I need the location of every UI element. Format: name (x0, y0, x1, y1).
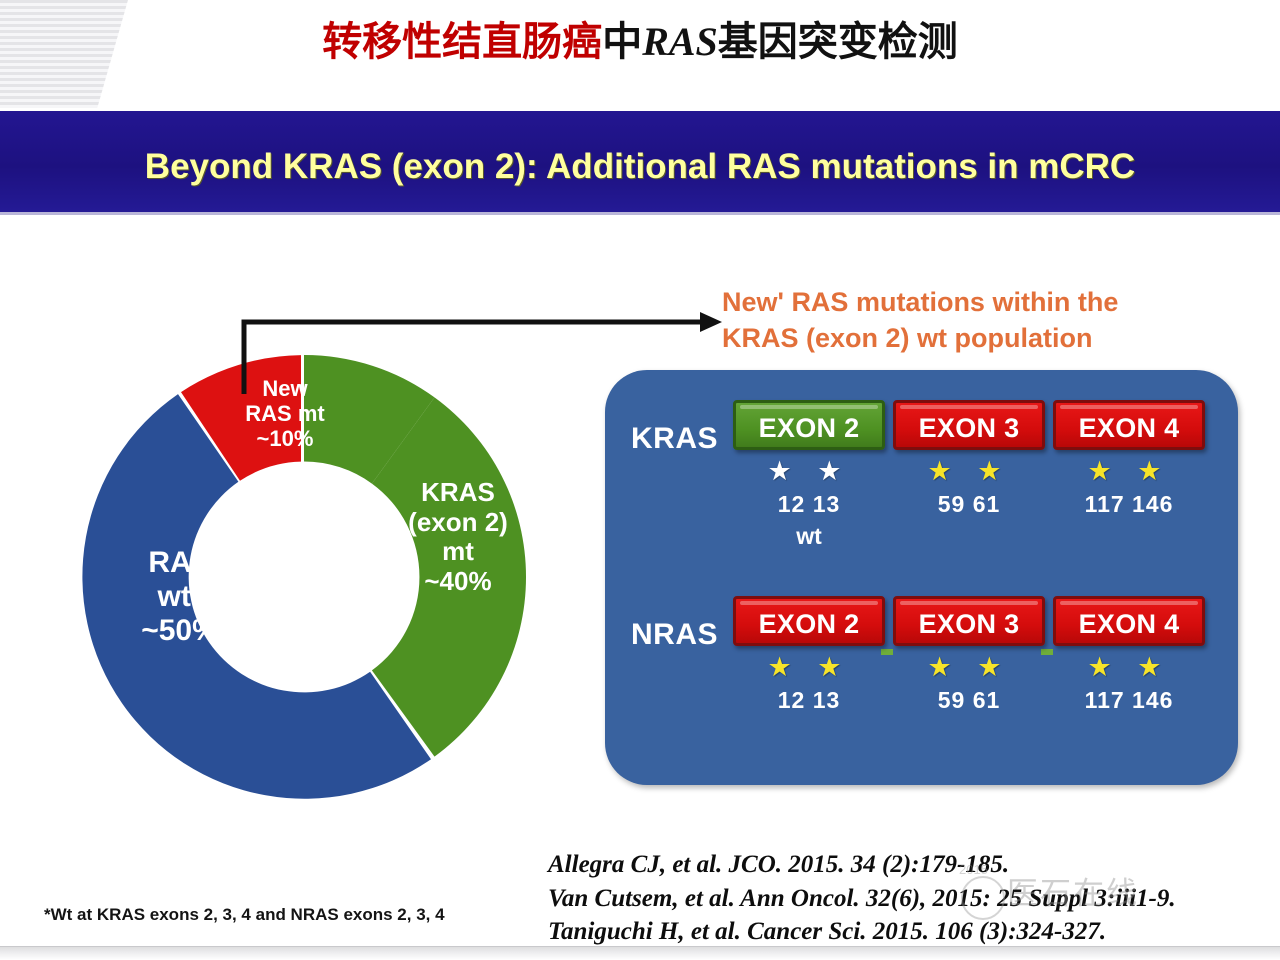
exon-box-kras-exon4[interactable]: EXON 4 (1053, 400, 1205, 450)
footnote-wt-definition: *Wt at KRAS exons 2, 3, 4 and NRAS exons… (44, 905, 445, 925)
codon-label-kras-exon2: 12 13 (733, 491, 885, 518)
exon-box-kras-exon2[interactable]: EXON 2 (733, 400, 885, 450)
exon-cell-kras-exon4: EXON 4 ★ ★ 117 146 (1053, 400, 1205, 518)
donut-label-ras-wt-line2: wt* (110, 580, 250, 614)
codon-label-kras-exon4: 117 146 (1053, 491, 1205, 518)
exon-diagram-panel: KRAS EXON 2 ★ ★ 12 13 wt EXON 3 ★ ★ 59 6… (605, 370, 1238, 785)
reference-list: Allegra CJ, et al. JCO. 2015. 34 (2):179… (548, 848, 1248, 949)
page-title-red-segment: 转移性结直肠癌 (322, 19, 602, 64)
donut-label-kras-exon2-mt: KRAS (exon 2) mt ~40% (378, 478, 538, 597)
section-banner: Beyond KRAS (exon 2): Additional RAS mut… (0, 111, 1280, 215)
donut-label-ras-wt: RAS wt* ~50% (110, 546, 250, 649)
callout-text: New' RAS mutations within the KRAS (exon… (722, 285, 1222, 357)
exon-box-nras-exon2[interactable]: EXON 2 (733, 596, 885, 646)
ras-mutation-donut-chart: New RAS mt ~10% KRAS (exon 2) mt ~40% RA… (68, 338, 540, 816)
donut-label-new-ras-mt-value: ~10% (220, 426, 350, 451)
callout-line-1: New' RAS mutations within the (722, 285, 1222, 321)
donut-label-kras-value: ~40% (378, 567, 538, 597)
page-title-black-cn-1: 中 (602, 19, 642, 64)
mutation-stars-nras-exon4: ★ ★ (1053, 654, 1205, 681)
donut-label-kras-line1: KRAS (378, 478, 538, 508)
mutation-stars-kras-exon3: ★ ★ (893, 458, 1045, 485)
exon-cell-kras-exon2: EXON 2 ★ ★ 12 13 wt (733, 400, 885, 550)
wt-label-kras-exon2: wt (733, 523, 885, 550)
exon-box-nras-exon4[interactable]: EXON 4 (1053, 596, 1205, 646)
exon-box-nras-exon3[interactable]: EXON 3 (893, 596, 1045, 646)
donut-label-new-ras-mt-line2: RAS mt (220, 401, 350, 426)
reference-item-3: Taniguchi H, et al. Cancer Sci. 2015. 10… (548, 915, 1248, 949)
donut-label-ras-wt-line1: RAS (110, 546, 250, 580)
bottom-edge-strip (0, 946, 1280, 960)
codon-label-nras-exon2: 12 13 (733, 687, 885, 714)
slide-canvas: 转移性结直肠癌中RAS基因突变检测 Beyond KRAS (exon 2): … (0, 0, 1280, 960)
page-title-black-cn-2: 基因突变检测 (718, 19, 958, 64)
exon-cell-nras-exon4: EXON 4 ★ ★ 117 146 (1053, 596, 1205, 714)
mutation-stars-kras-exon2: ★ ★ (733, 458, 885, 485)
donut-label-kras-line3: mt (378, 537, 538, 567)
codon-label-nras-exon3: 59 61 (893, 687, 1045, 714)
reference-item-2: Van Cutsem, et al. Ann Oncol. 32(6), 201… (548, 882, 1248, 916)
exon-cell-nras-exon3: EXON 3 ★ ★ 59 61 (893, 596, 1045, 714)
page-title: 转移性结直肠癌中RAS基因突变检测 (0, 22, 1280, 62)
exon-cell-nras-exon2: EXON 2 ★ ★ 12 13 (733, 596, 885, 714)
mutation-stars-nras-exon3: ★ ★ (893, 654, 1045, 681)
section-banner-title: Beyond KRAS (exon 2): Additional RAS mut… (0, 147, 1280, 187)
donut-label-kras-line2: (exon 2) (378, 508, 538, 538)
exon-box-kras-exon3[interactable]: EXON 3 (893, 400, 1045, 450)
codon-label-kras-exon3: 59 61 (893, 491, 1045, 518)
mutation-stars-kras-exon4: ★ ★ (1053, 458, 1205, 485)
reference-item-1: Allegra CJ, et al. JCO. 2015. 34 (2):179… (548, 848, 1248, 882)
callout-line-2: KRAS (exon 2) wt population (722, 321, 1222, 357)
exon-cell-kras-exon3: EXON 3 ★ ★ 59 61 (893, 400, 1045, 518)
donut-label-ras-wt-value: ~50% (110, 614, 250, 648)
mutation-stars-nras-exon2: ★ ★ (733, 654, 885, 681)
page-title-latin: RAS (642, 19, 718, 64)
codon-label-nras-exon4: 117 146 (1053, 687, 1205, 714)
